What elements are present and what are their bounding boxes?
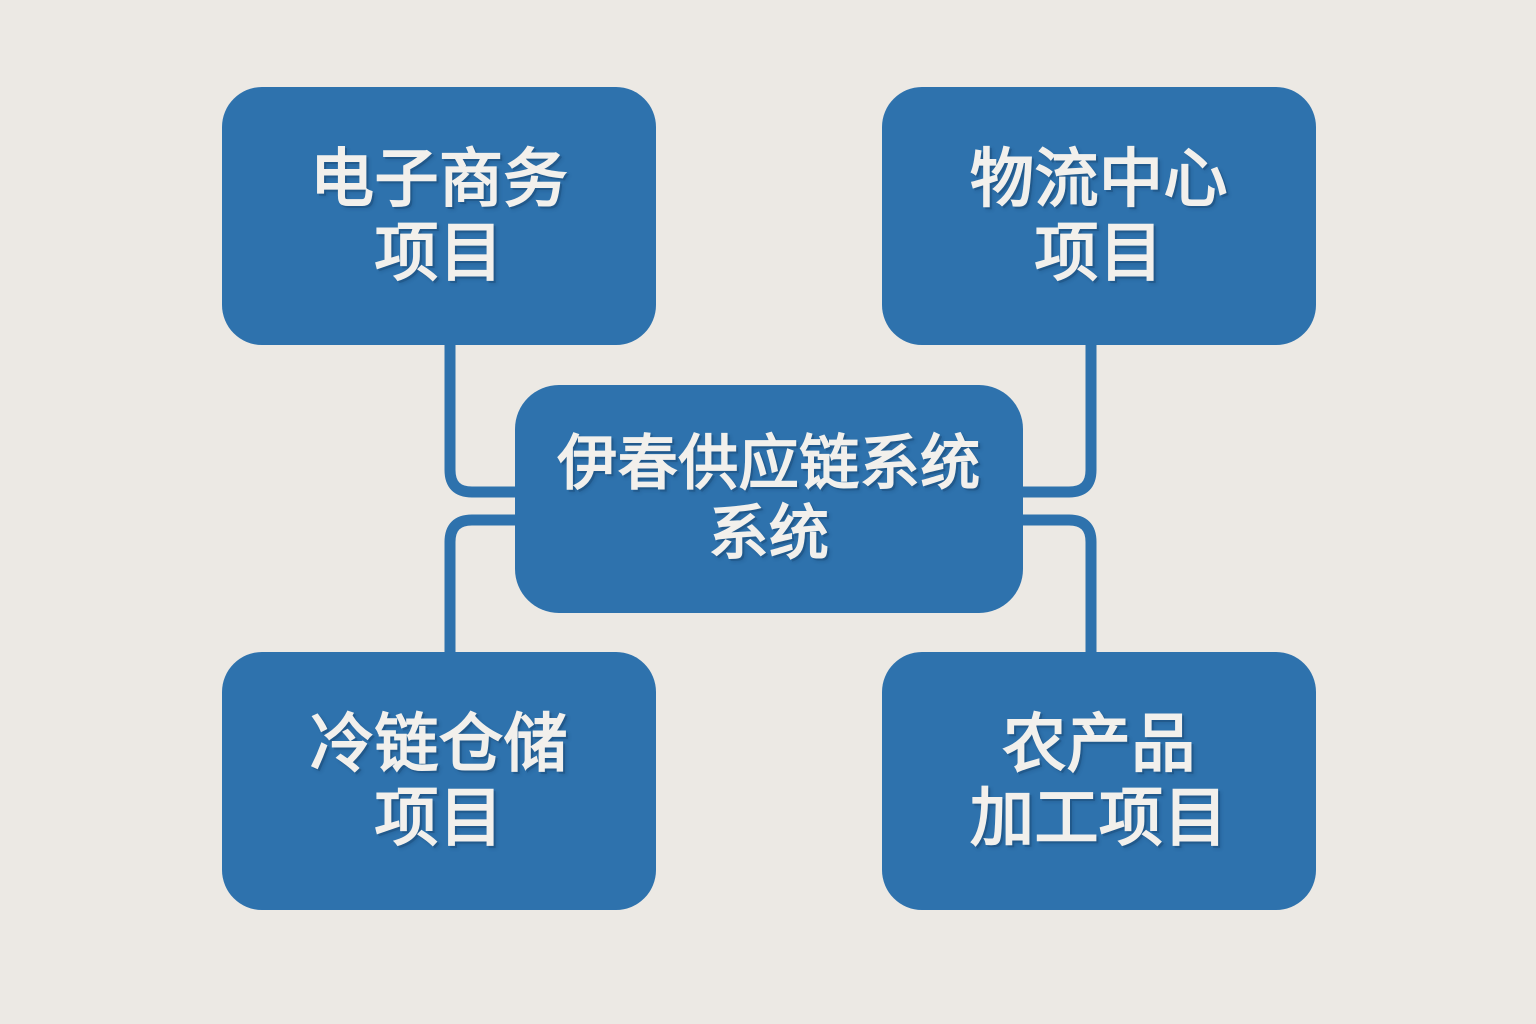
node-label-cold-chain-warehouse-project: 冷链仓储 项目 [310, 707, 568, 855]
node-label-supply-chain-system: 伊春供应链系统 系统 [557, 429, 981, 568]
edge-center-to-coldchain [450, 520, 520, 658]
node-cold-chain-warehouse-project[interactable]: 冷链仓储 项目 [222, 652, 656, 910]
node-agricultural-processing-project[interactable]: 农产品 加工项目 [882, 652, 1316, 910]
diagram-canvas: 电子商务 项目 物流中心 项目 伊春供应链系统 系统 冷链仓储 项目 农产品 加… [0, 0, 1536, 1024]
edge-logistics-to-center [1020, 340, 1091, 492]
node-label-agricultural-processing-project: 农产品 加工项目 [970, 707, 1228, 855]
node-label-ecommerce-project: 电子商务 项目 [310, 142, 568, 290]
edge-center-to-agri [1020, 520, 1091, 658]
edge-ecommerce-to-center [450, 340, 520, 492]
node-ecommerce-project[interactable]: 电子商务 项目 [222, 87, 656, 345]
node-label-logistics-center-project: 物流中心 项目 [970, 142, 1228, 290]
node-logistics-center-project[interactable]: 物流中心 项目 [882, 87, 1316, 345]
node-supply-chain-system[interactable]: 伊春供应链系统 系统 [515, 385, 1023, 613]
